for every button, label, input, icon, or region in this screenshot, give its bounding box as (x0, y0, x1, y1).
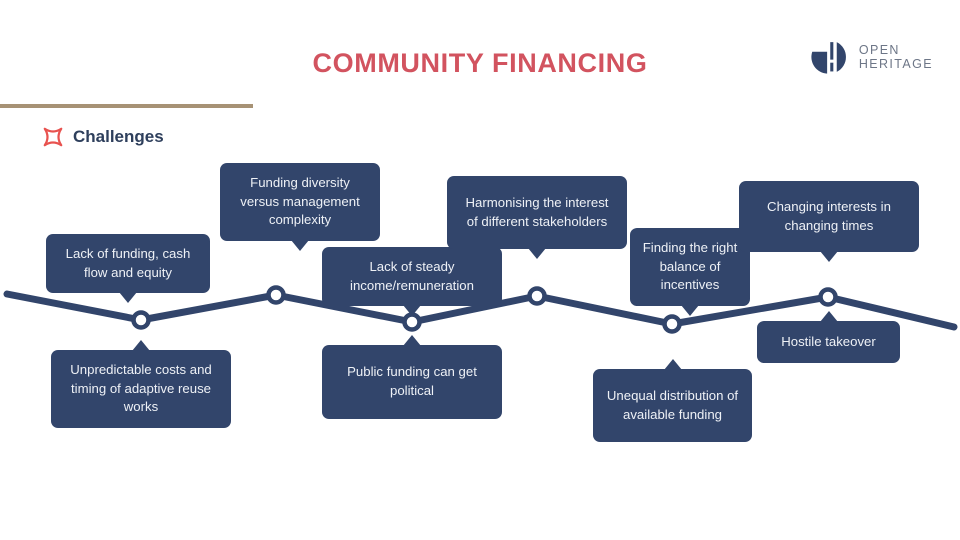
timeline-node[interactable] (405, 315, 420, 330)
callout-tail (820, 251, 838, 262)
callout-label: Finding the right balance of incentives (642, 239, 738, 295)
timeline-node[interactable] (530, 289, 545, 304)
open-heritage-logo: OPEN HERITAGE (807, 36, 933, 78)
timeline-node[interactable] (134, 313, 149, 328)
callout-changing-interests[interactable]: Changing interests in changing times (739, 181, 919, 252)
gold-divider (0, 104, 253, 108)
callout-label: Changing interests in changing times (751, 198, 907, 235)
callout-unpredictable-costs[interactable]: Unpredictable costs and timing of adapti… (51, 350, 231, 428)
section-title: Challenges (73, 127, 164, 147)
section-header: Challenges (42, 126, 164, 148)
callout-label: Unpredictable costs and timing of adapti… (63, 361, 219, 417)
callout-label: Harmonising the interest of different st… (459, 194, 615, 231)
callout-lack-of-funding[interactable]: Lack of funding, cash flow and equity (46, 234, 210, 293)
callout-finding-right-balance[interactable]: Finding the right balance of incentives (630, 228, 750, 306)
logo-line-2: HERITAGE (859, 57, 933, 71)
callout-funding-diversity[interactable]: Funding diversity versus management comp… (220, 163, 380, 241)
callout-label: Hostile takeover (781, 333, 876, 352)
slide-canvas: COMMUNITY FINANCING OPEN HERITAGE Challe… (0, 0, 960, 540)
callout-tail (528, 248, 546, 259)
callout-tail (820, 311, 838, 322)
logo-line-1: OPEN (859, 43, 933, 57)
callout-tail (681, 305, 699, 316)
callout-unequal-distribution[interactable]: Unequal distribution of available fundin… (593, 369, 752, 442)
callout-hostile-takeover[interactable]: Hostile takeover (757, 321, 900, 363)
callout-label: Lack of steady income/remuneration (334, 258, 490, 295)
timeline-node[interactable] (665, 317, 680, 332)
timeline-node[interactable] (269, 288, 284, 303)
burst-star-icon (42, 126, 64, 148)
callout-tail (403, 305, 421, 316)
callout-label: Funding diversity versus management comp… (232, 174, 368, 230)
callout-public-funding-political[interactable]: Public funding can get political (322, 345, 502, 419)
callout-label: Lack of funding, cash flow and equity (58, 245, 198, 282)
callout-tail (664, 359, 682, 370)
callout-label: Unequal distribution of available fundin… (605, 387, 740, 424)
callout-harmonising-interests[interactable]: Harmonising the interest of different st… (447, 176, 627, 249)
callout-tail (291, 240, 309, 251)
callout-tail (119, 292, 137, 303)
open-heritage-emblem-icon (807, 36, 849, 78)
logo-wordmark: OPEN HERITAGE (859, 43, 933, 71)
callout-label: Public funding can get political (334, 363, 490, 400)
callout-tail (132, 340, 150, 351)
callout-lack-of-steady-income[interactable]: Lack of steady income/remuneration (322, 247, 502, 306)
callout-tail (403, 335, 421, 346)
timeline-node[interactable] (821, 290, 836, 305)
